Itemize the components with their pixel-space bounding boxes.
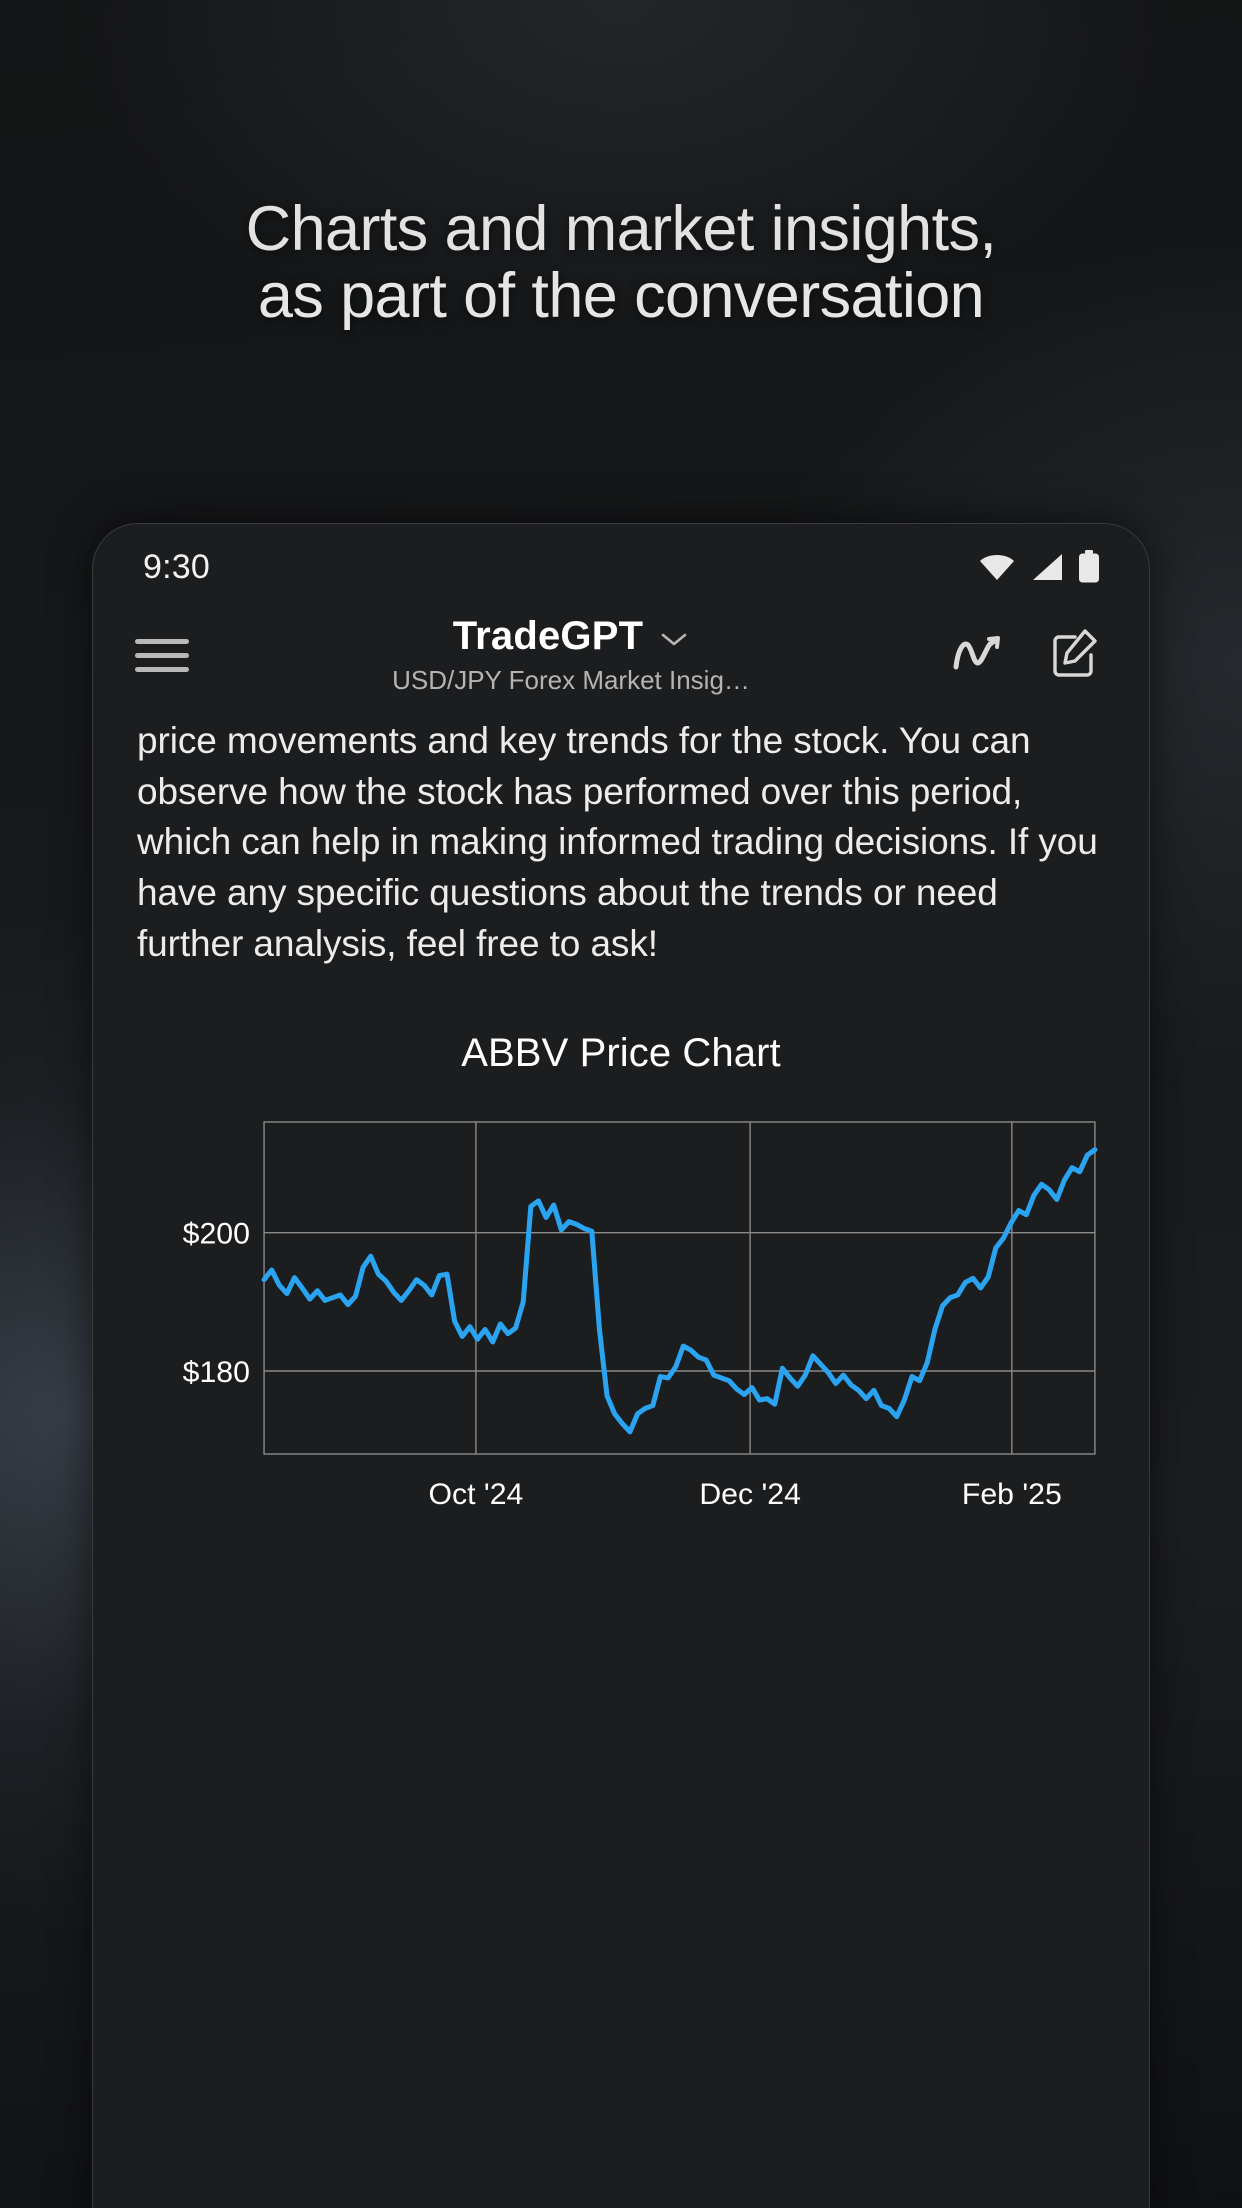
hamburger-bar — [135, 653, 189, 658]
watchlist-action-bar: Add to Watchlist View Watchlist — [93, 2181, 1149, 2208]
chevron-down-icon[interactable] — [659, 626, 689, 652]
x-tick-label: Oct '24 — [428, 1479, 523, 1512]
status-bar: 9:30 — [93, 524, 1149, 600]
header-title-block[interactable]: TradeGPT USD/JPY Forex Market Insig… — [191, 614, 951, 696]
add-to-watchlist-button[interactable]: Add to Watchlist — [141, 2203, 429, 2208]
battery-icon — [1077, 550, 1101, 584]
y-tick-label: $180 — [183, 1357, 250, 1390]
compose-edit-icon[interactable] — [1049, 627, 1101, 684]
x-tick-label: Dec '24 — [699, 1479, 801, 1512]
app-header: TradeGPT USD/JPY Forex Market Insig… — [93, 600, 1149, 710]
status-bar-icons — [977, 550, 1101, 584]
status-bar-time: 9:30 — [143, 548, 210, 587]
cellular-signal-icon — [1029, 552, 1065, 582]
hamburger-bar — [135, 639, 189, 644]
price-chart[interactable]: $200$180Oct '24Dec '24Feb '25 — [137, 1114, 1105, 1524]
header-actions — [951, 627, 1111, 684]
promo-headline: Charts and market insights, as part of t… — [0, 196, 1242, 331]
price-line — [264, 1150, 1095, 1432]
promo-headline-line-2: as part of the conversation — [70, 263, 1172, 330]
wifi-icon — [977, 552, 1017, 582]
promo-headline-line-1: Charts and market insights, — [70, 196, 1172, 263]
y-tick-label: $200 — [183, 1218, 250, 1251]
phone-mockup: 9:30 — [92, 523, 1150, 2208]
app-title: TradeGPT — [453, 614, 644, 659]
x-tick-label: Feb '25 — [962, 1479, 1062, 1512]
trending-chart-icon[interactable] — [951, 631, 1005, 680]
hamburger-bar — [135, 667, 189, 672]
chart-title: ABBV Price Chart — [137, 1031, 1105, 1076]
header-title-row[interactable]: TradeGPT — [453, 614, 690, 659]
hamburger-menu-icon[interactable] — [135, 630, 191, 681]
price-chart-card: ABBV Price Chart $200$180Oct '24Dec '24F… — [137, 1031, 1105, 1524]
chat-body: price movements and key trends for the s… — [93, 710, 1149, 1524]
view-watchlist-link[interactable]: View Watchlist — [843, 2203, 1101, 2208]
price-chart-svg: $200$180Oct '24Dec '24Feb '25 — [137, 1114, 1105, 1524]
assistant-message: price movements and key trends for the s… — [137, 716, 1105, 969]
conversation-subtitle: USD/JPY Forex Market Insig… — [392, 665, 750, 696]
promo-screenshot-root: Charts and market insights, as part of t… — [0, 0, 1242, 2208]
